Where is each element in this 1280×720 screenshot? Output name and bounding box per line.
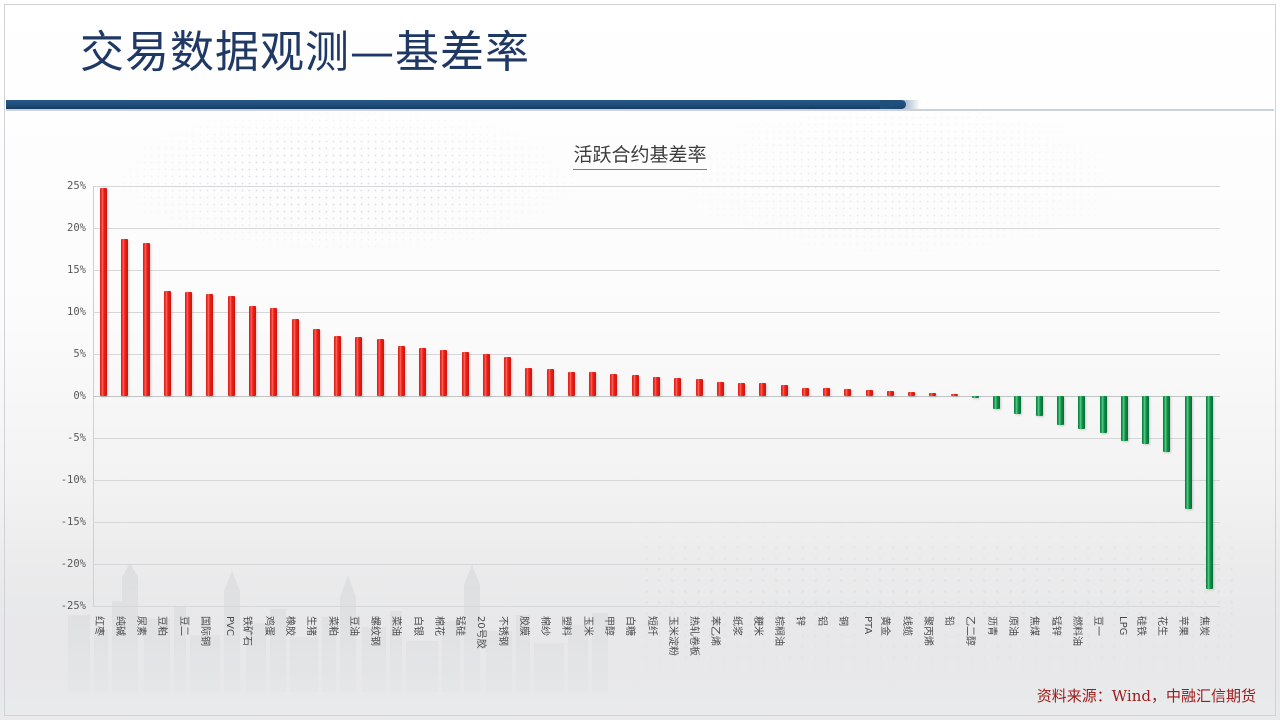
bar (887, 391, 894, 396)
bar (823, 388, 830, 396)
bar (993, 396, 1000, 409)
x-tick-label: 线缆 (901, 616, 916, 636)
bar (632, 375, 639, 396)
bar (206, 294, 213, 396)
x-tick-label: 纯碱 (114, 616, 129, 636)
bar (462, 352, 469, 396)
bar (228, 296, 235, 396)
y-tick-label: 5% (40, 348, 86, 360)
bar (1206, 396, 1213, 589)
x-tick-label: 不锈钢 (497, 616, 512, 646)
x-tick-label: 铅 (943, 616, 958, 626)
x-tick-label: 硅铁 (1135, 616, 1150, 636)
bar (781, 385, 788, 396)
bar (355, 337, 362, 396)
bar (143, 243, 150, 396)
x-tick-label: 豆粕 (156, 616, 171, 636)
y-tick-label: -25% (40, 600, 86, 612)
x-tick-label: 红枣 (93, 616, 108, 636)
x-tick-label: 铁矿石 (241, 616, 256, 646)
bar (674, 378, 681, 396)
bar (1121, 396, 1128, 441)
x-tick-label: 燃料油 (1071, 616, 1086, 646)
bar (185, 292, 192, 396)
bar (334, 336, 341, 396)
x-tick-label: 短纤 (646, 616, 661, 636)
x-tick-label: 菜粕 (327, 616, 342, 636)
x-tick-label: 花生 (1156, 616, 1171, 636)
title-underline-fade (880, 100, 920, 109)
x-tick-label: 铝 (816, 616, 831, 626)
x-tick-label: 锌 (794, 616, 809, 626)
x-tick-label: 豆油 (348, 616, 363, 636)
x-tick-label: 螺纹钢 (369, 616, 384, 646)
chart-title-text: 活跃合约基差率 (573, 144, 706, 170)
x-tick-label: 黄金 (879, 616, 894, 636)
bar (908, 392, 915, 396)
x-tick-label: 豆一 (1092, 616, 1107, 636)
x-tick-label: 白糖 (624, 616, 639, 636)
x-tick-label: PVC (224, 616, 235, 636)
bar (1185, 396, 1192, 509)
bar (1163, 396, 1170, 452)
bar (398, 346, 405, 396)
bar (270, 308, 277, 396)
x-tick-label: 焦煤 (1028, 616, 1043, 636)
x-tick-label: 棉花 (433, 616, 448, 636)
x-tick-label: 豆二 (178, 616, 193, 636)
x-tick-label: 20号胶 (475, 616, 490, 649)
x-tick-label: PTA (862, 616, 873, 634)
x-tick-label: 玉米 (582, 616, 597, 636)
x-tick-label: 菜油 (390, 616, 405, 636)
y-tick-label: 15% (40, 264, 86, 276)
x-tick-label: 铜 (837, 616, 852, 626)
y-tick-label: -10% (40, 474, 86, 486)
bar (440, 350, 447, 396)
x-tick-label: 纸浆 (731, 616, 746, 636)
x-tick-label: 苹果 (1177, 616, 1192, 636)
source-note: 资料来源：Wind，中融汇信期货 (1037, 685, 1256, 706)
x-tick-label: 乙二醇 (964, 616, 979, 646)
slide-title-band: 交易数据观测—基差率 (0, 0, 1280, 106)
x-tick-label: 苯乙烯 (709, 616, 724, 646)
y-tick-label: -20% (40, 558, 86, 570)
bar (802, 388, 809, 396)
y-tick-label: 10% (40, 306, 86, 318)
bar (653, 377, 660, 396)
bars-container (93, 186, 1220, 606)
x-tick-label: 玉米淀粉 (667, 616, 682, 656)
bar (1057, 396, 1064, 425)
bar (759, 383, 766, 396)
bar (929, 393, 936, 396)
x-tick-label: 白银 (412, 616, 427, 636)
y-tick-label: -5% (40, 432, 86, 444)
bar (419, 348, 426, 396)
x-tick-label: 国际铜 (199, 616, 214, 646)
x-tick-label: 锰硅 (454, 616, 469, 636)
bar (610, 374, 617, 396)
chart-area: 活跃合约基差率 25%20%15%10%5%0%-5%-10%-15%-20%-… (0, 118, 1280, 688)
bar (972, 396, 979, 398)
x-tick-label: 橡胶 (284, 616, 299, 636)
bar (866, 390, 873, 396)
title-underline-bar (6, 100, 906, 109)
bar (696, 379, 703, 396)
bar (121, 239, 128, 396)
bar (164, 291, 171, 396)
bar (525, 368, 532, 396)
x-tick-label: 鸡蛋 (263, 616, 278, 636)
x-tick-label: 生猪 (305, 616, 320, 636)
bar (1036, 396, 1043, 416)
bar (249, 306, 256, 396)
bar (951, 394, 958, 396)
bar (1100, 396, 1107, 433)
bar (568, 372, 575, 396)
gridline-neg25 (93, 606, 1220, 607)
bar (483, 354, 490, 396)
bar (292, 319, 299, 396)
x-tick-label: 热轧卷板 (688, 616, 703, 656)
x-tick-label: LPG (1117, 616, 1128, 635)
x-tick-label: 胶膜 (518, 616, 533, 636)
bar (589, 372, 596, 396)
bar (844, 389, 851, 396)
bar (377, 339, 384, 396)
x-tick-label: 甲醇 (603, 616, 618, 636)
x-tick-label: 棉纱 (539, 616, 554, 636)
bar (504, 357, 511, 396)
y-tick-label: 20% (40, 222, 86, 234)
x-tick-label: 沥青 (986, 616, 1001, 636)
page-title: 交易数据观测—基差率 (80, 26, 530, 80)
x-tick-label: 粳米 (752, 616, 767, 636)
bar-chart-plot: 25%20%15%10%5%0%-5%-10%-15%-20%-25% (93, 186, 1220, 606)
title-thin-rule (6, 109, 1274, 111)
x-tick-label: 尿素 (135, 616, 150, 636)
x-tick-label: 聚丙烯 (922, 616, 937, 646)
x-tick-label: 原油 (1007, 616, 1022, 636)
y-tick-label: 0% (40, 390, 86, 402)
bar (547, 369, 554, 396)
bar (1014, 396, 1021, 414)
bar (1078, 396, 1085, 429)
x-tick-label: 锰锌 (1050, 616, 1065, 636)
bar (738, 383, 745, 396)
chart-title: 活跃合约基差率 (0, 140, 1280, 167)
y-tick-label: -15% (40, 516, 86, 528)
bar (1142, 396, 1149, 444)
x-tick-label: 焦炭 (1198, 616, 1213, 636)
bar (717, 382, 724, 396)
x-tick-label: 塑料 (560, 616, 575, 636)
x-tick-label: 棕榈油 (773, 616, 788, 646)
slide-canvas: 交易数据观测—基差率 活跃合约基差率 25%20%15%10%5%0%-5%-1… (0, 0, 1280, 720)
bar (100, 188, 107, 396)
bar (313, 329, 320, 396)
y-tick-label: 25% (40, 180, 86, 192)
